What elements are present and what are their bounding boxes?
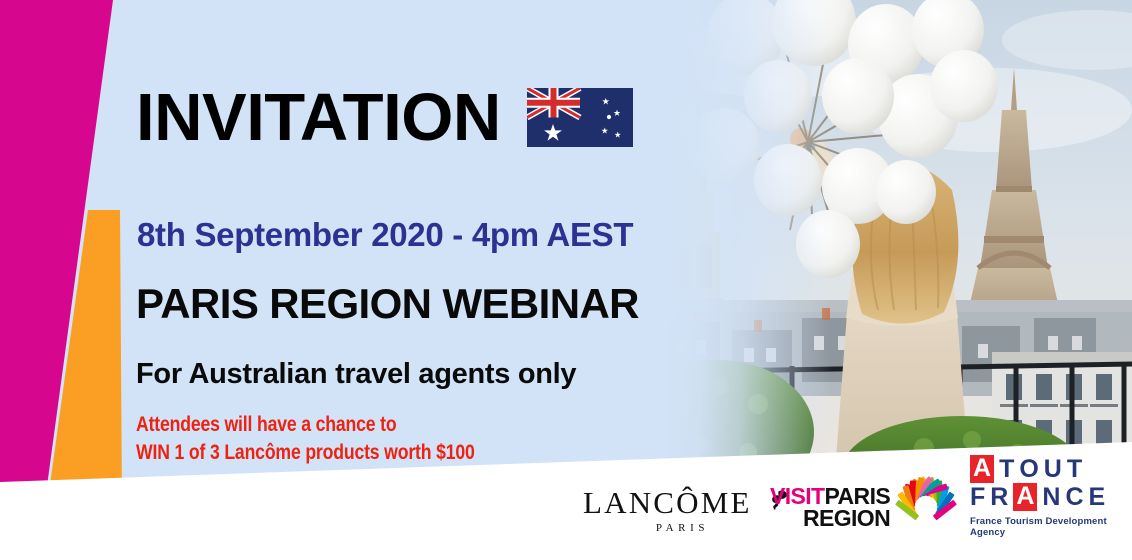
atout-a1: A	[970, 455, 994, 483]
flag-svg	[527, 88, 633, 147]
atout-t: T	[999, 457, 1014, 482]
visit-paris-region-logo: VISITPARIS REGION	[770, 480, 954, 534]
prize-line-2: WIN 1 of 3 Lancôme products worth $100	[136, 439, 475, 467]
page-title: INVITATION	[136, 84, 501, 151]
logo-bar: LANCÔME PARIS VISITPARIS REGION	[575, 474, 1125, 546]
atout-tagline: France Tourism Development Agency	[970, 516, 1125, 538]
atout-line-1: A T O U T	[970, 455, 1125, 483]
france-e: E	[1089, 485, 1106, 510]
invitation-banner: INVITATION	[0, 0, 1132, 560]
vpr-region: REGION	[770, 507, 890, 529]
france-f: F	[970, 485, 985, 510]
france-a: A	[1013, 483, 1037, 511]
headline-row: INVITATION	[136, 84, 633, 151]
australian-flag-icon	[527, 88, 633, 147]
atout-o: O	[1019, 457, 1038, 482]
hero-photo	[662, 0, 1132, 512]
prize-note: Attendees will have a chance to WIN 1 of…	[136, 411, 475, 466]
lancome-wordmark: LANCÔME	[583, 487, 768, 518]
audience-note: For Australian travel agents only	[136, 358, 576, 391]
event-title: PARIS REGION WEBINAR	[136, 280, 639, 328]
atout-t2: T	[1067, 457, 1082, 482]
atout-line-2: F R A N C E	[970, 483, 1125, 511]
lancome-logo: LANCÔME PARIS	[583, 487, 768, 534]
vpr-line-1: VISITPARIS	[770, 485, 890, 507]
france-r: R	[990, 485, 1008, 510]
color-burst-icon	[898, 480, 954, 534]
vpr-wordmark: VISITPARIS REGION	[770, 485, 890, 529]
lancome-subtitle: PARIS	[583, 522, 768, 534]
prize-line-1: Attendees will have a chance to	[136, 411, 475, 439]
photo-fade-overlay	[662, 0, 832, 512]
event-datetime: 8th September 2020 - 4pm AEST	[137, 216, 633, 254]
atout-france-logo: A T O U T F R A N C E France Tourism Dev…	[970, 455, 1125, 538]
atout-u: U	[1044, 457, 1062, 482]
france-c: C	[1065, 485, 1083, 510]
france-n: N	[1042, 485, 1060, 510]
